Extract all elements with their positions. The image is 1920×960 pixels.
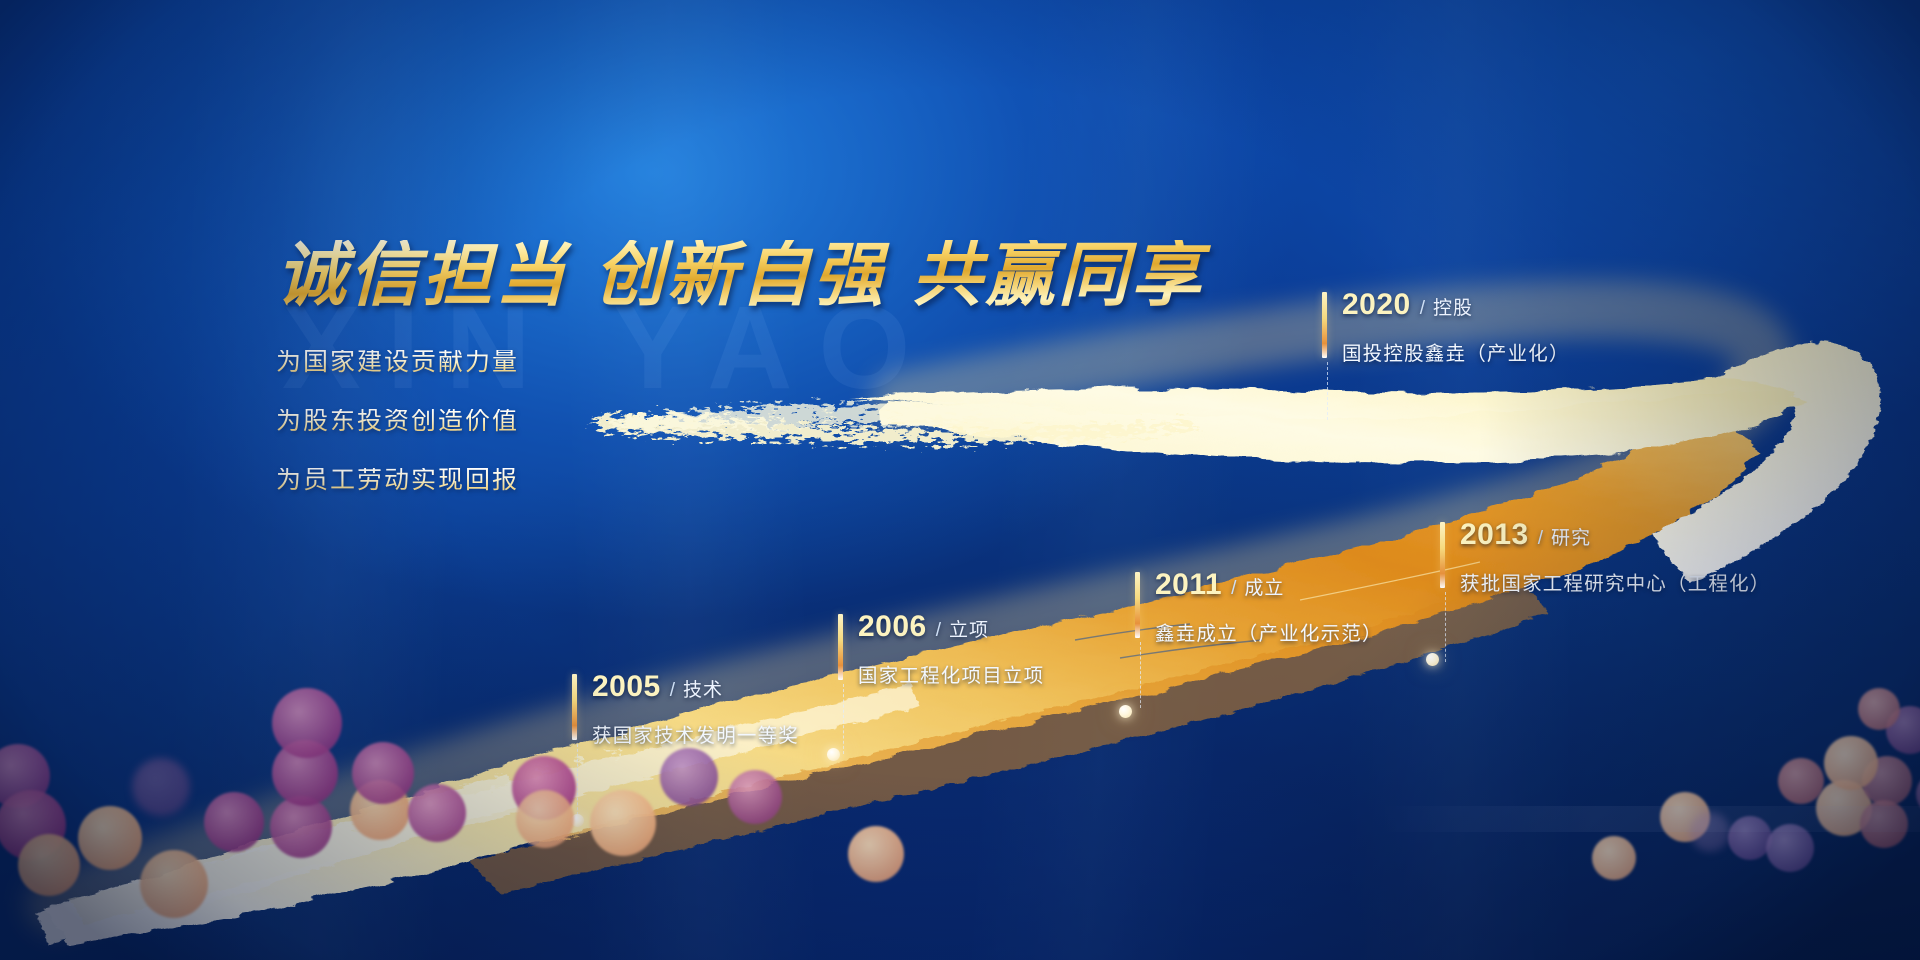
bokeh-circle (350, 780, 410, 840)
page-title: 诚信担当创新自强共赢同享 (276, 240, 1276, 310)
leader-line-2011 (1140, 642, 1141, 708)
milestone-tag: 技术 (683, 680, 723, 701)
milestone-2020[interactable]: 2020/控股 国投控股鑫垚（产业化） (1322, 290, 1570, 366)
bokeh-circle (408, 784, 466, 842)
milestone-tag: 成立 (1244, 578, 1284, 599)
bokeh-circle (1824, 736, 1878, 790)
milestone-year: 2020 (1342, 290, 1411, 320)
bokeh-circle (1862, 756, 1912, 806)
milestone-2005[interactable]: 2005/技术 获国家技术发明一等奖 (572, 672, 799, 748)
timeline-dot-2013[interactable] (1426, 653, 1439, 666)
bokeh-circle (1860, 800, 1908, 848)
bokeh-circle (0, 790, 66, 860)
leader-line-2020 (1327, 362, 1328, 420)
bokeh-circle (270, 796, 332, 858)
milestone-slash: / (1538, 528, 1544, 549)
milestone-slash: / (1420, 298, 1426, 319)
timeline-dot-2006[interactable] (827, 748, 840, 761)
milestone-2013[interactable]: 2013/研究 获批国家工程研究中心（工程化） (1440, 520, 1771, 596)
milestone-year: 2013 (1460, 520, 1529, 550)
bokeh-circle (848, 826, 904, 882)
milestone-2006[interactable]: 2006/立项 国家工程化项目立项 (838, 612, 1044, 688)
milestone-description: 获国家技术发明一等奖 (572, 719, 799, 748)
milestone-year: 2006 (858, 612, 927, 642)
headline-part-2: 创新自强 (594, 234, 886, 316)
leader-line-2013 (1445, 592, 1446, 662)
milestone-description: 国家工程化项目立项 (838, 659, 1044, 688)
haze-band-decoration (1380, 806, 1920, 832)
bokeh-circle (590, 790, 656, 856)
bokeh-circle (0, 744, 50, 808)
leader-line-2005 (577, 744, 578, 820)
bokeh-circle (1858, 688, 1900, 730)
milestone-description: 鑫垚成立（产业化示范） (1135, 617, 1383, 646)
timeline-dot-2011[interactable] (1119, 705, 1132, 718)
subtitle-line-1: 为国家建设贡献力量 (276, 350, 1276, 375)
bokeh-circle (1690, 812, 1730, 852)
headline-part-1: 诚信担当 (276, 234, 568, 316)
bokeh-circle (1592, 836, 1636, 880)
milestone-year: 2011 (1155, 570, 1222, 600)
bokeh-circle (1916, 772, 1920, 816)
milestone-accent-bar (1135, 572, 1140, 638)
subtitle-line-2: 为股东投资创造价值 (276, 409, 1276, 434)
bokeh-circle (78, 806, 142, 870)
milestone-tag: 控股 (1433, 298, 1473, 319)
bokeh-circle (516, 790, 574, 848)
bokeh-circle (132, 758, 190, 816)
milestone-2011[interactable]: 2011/成立 鑫垚成立（产业化示范） (1135, 570, 1383, 646)
bokeh-circle (272, 740, 338, 806)
bokeh-circle (728, 770, 782, 824)
subtitle-list: 为国家建设贡献力量 为股东投资创造价值 为员工劳动实现回报 (276, 350, 1276, 493)
milestone-slash: / (670, 680, 676, 701)
bokeh-circle (352, 742, 414, 804)
milestone-accent-bar (838, 614, 843, 680)
milestone-slash: / (936, 620, 942, 641)
milestone-accent-bar (572, 674, 577, 740)
bokeh-circle (1660, 792, 1710, 842)
banner-canvas: XIN YAO 诚信担当创新自强共赢同享 为国家建设贡献力量 为股东投资创造价值… (0, 0, 1920, 960)
headline-part-3: 共赢同享 (912, 234, 1204, 316)
milestone-tag: 立项 (949, 620, 989, 641)
bokeh-circle (512, 756, 576, 820)
milestone-tag: 研究 (1551, 528, 1591, 549)
bokeh-circle (660, 748, 718, 806)
timeline-dot-2005[interactable] (571, 814, 584, 827)
bokeh-circle (1886, 706, 1920, 754)
milestone-accent-bar (1440, 522, 1445, 588)
milestone-accent-bar (1322, 292, 1327, 358)
subtitle-line-3: 为员工劳动实现回报 (276, 468, 1276, 493)
headline-block: XIN YAO 诚信担当创新自强共赢同享 为国家建设贡献力量 为股东投资创造价值… (276, 240, 1276, 527)
bokeh-circle (204, 792, 264, 852)
bokeh-circle (1816, 780, 1872, 836)
bokeh-circle (18, 834, 80, 896)
milestone-description: 获批国家工程研究中心（工程化） (1440, 567, 1771, 596)
milestone-year: 2005 (592, 672, 661, 702)
bokeh-circle (1766, 824, 1814, 872)
leader-line-2006 (843, 684, 844, 754)
bokeh-circle (1778, 758, 1824, 804)
bokeh-circle (1728, 816, 1772, 860)
bokeh-circle (140, 850, 208, 918)
milestone-slash: / (1231, 578, 1237, 599)
bokeh-circle (272, 688, 342, 758)
milestone-description: 国投控股鑫垚（产业化） (1322, 337, 1570, 366)
